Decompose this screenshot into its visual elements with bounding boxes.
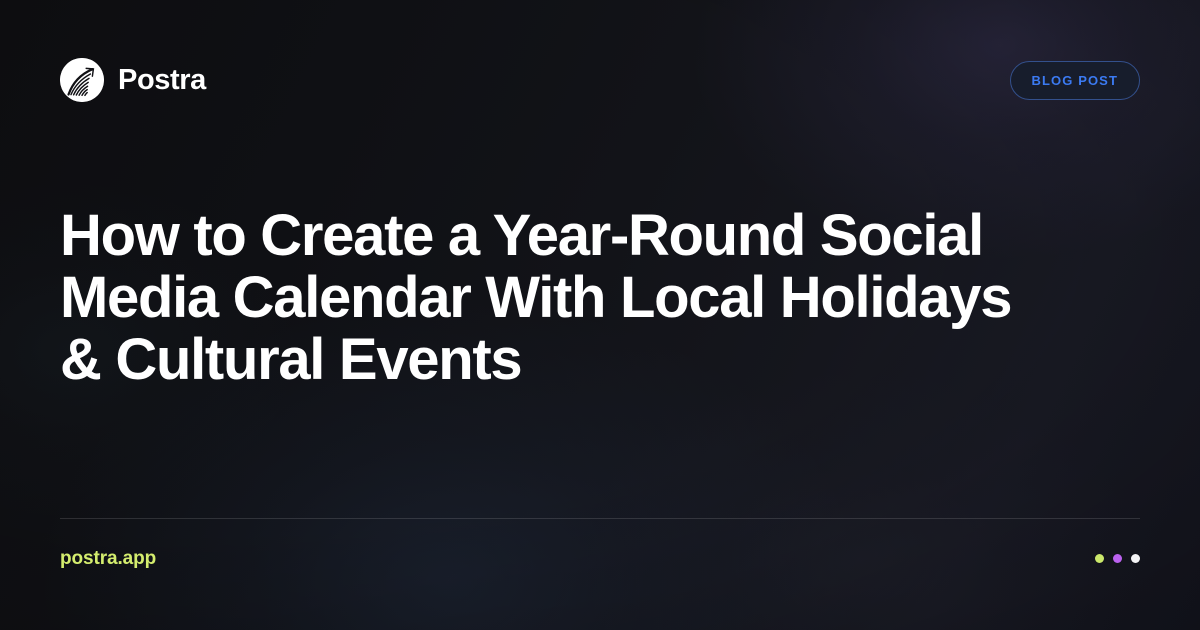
page-title: How to Create a Year-Round Social Media … — [60, 205, 1020, 391]
footer-dot-purple — [1113, 554, 1122, 563]
background-glow-slate — [580, 370, 1140, 630]
footer-dot-group — [1095, 554, 1140, 563]
og-image-card: Postra BLOG POST How to Create a Year-Ro… — [0, 0, 1200, 630]
brand-name: Postra — [118, 66, 206, 95]
status-badge-blog-post[interactable]: BLOG POST — [1010, 61, 1140, 100]
footer-dot-lime — [1095, 554, 1104, 563]
footer-domain-label: postra.app — [60, 549, 156, 568]
title-block: How to Create a Year-Round Social Media … — [60, 205, 1140, 391]
footer-divider — [60, 518, 1140, 519]
postra-arrow-circle-logo-icon — [60, 58, 104, 102]
brand-lockup[interactable]: Postra — [60, 58, 206, 102]
footer-dot-white — [1131, 554, 1140, 563]
card-footer: postra.app — [60, 545, 1140, 571]
card-header: Postra BLOG POST — [60, 52, 1140, 108]
